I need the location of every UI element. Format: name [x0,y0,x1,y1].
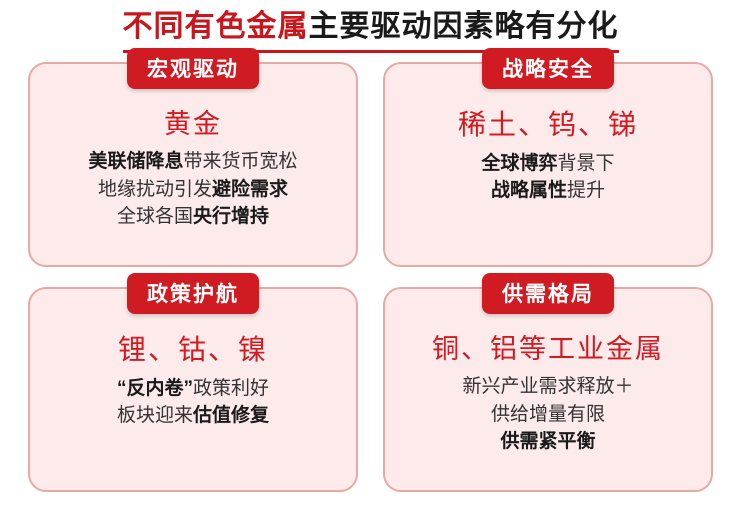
card-line-emphasis: 全球博弈 [481,153,557,174]
card-badge: 战略安全 [482,48,614,89]
card-line: “反内卷”政策利好 [44,375,342,403]
card-line: 全球博弈背景下 [399,150,697,178]
card-line: 美联储降息带来货币宽松 [44,148,342,176]
title-container: 不同有色金属主要驱动因素略有分化 [0,0,741,53]
card-line-emphasis: 避险需求 [212,179,288,200]
card-badge: 供需格局 [482,273,614,314]
card-line-emphasis: 供需紧平衡 [500,431,595,452]
card-body: 美联储降息带来货币宽松 地缘扰动引发避险需求 全球各国央行增持 [30,148,356,231]
card-body: 新兴产业需求释放＋ 供给增量有限 供需紧平衡 [385,373,711,456]
card-line-text: 新兴产业需求释放＋ [462,376,633,397]
card-line: 地缘扰动引发避险需求 [44,176,342,204]
card-policy-support: 政策护航 锂、钴、镍 “反内卷”政策利好 板块迎来估值修复 [28,287,358,492]
title-red-part: 不同有色金属 [123,10,309,43]
card-line-emphasis: 央行增持 [193,206,269,227]
card-heading: 锂、钴、镍 [30,333,356,367]
card-line: 供给增量有限 [399,401,697,429]
card-strategic-security: 战略安全 稀土、钨、锑 全球博弈背景下 战略属性提升 [383,62,713,267]
card-body: “反内卷”政策利好 板块迎来估值修复 [30,375,356,430]
card-line-text: 地缘扰动引发 [98,179,212,200]
card-line: 板块迎来估值修复 [44,402,342,430]
card-line: 全球各国央行增持 [44,203,342,231]
card-line: 战略属性提升 [399,177,697,205]
card-line: 新兴产业需求释放＋ [399,373,697,401]
page-title: 不同有色金属主要驱动因素略有分化 [123,8,619,53]
card-line: 供需紧平衡 [399,428,697,456]
card-heading: 黄金 [30,108,356,140]
card-line-text: 背景下 [558,153,615,174]
card-line-emphasis: 美联储降息 [88,151,183,172]
card-line-emphasis: “反内卷” [117,378,193,399]
card-line-text: 全球各国 [117,206,193,227]
card-line-text: 提升 [567,180,605,201]
card-heading: 铜、铝等工业金属 [385,333,711,365]
card-heading: 稀土、钨、锑 [385,108,711,142]
card-line-text: 板块迎来 [117,405,193,426]
card-line-text: 供给增量有限 [491,404,605,425]
card-supply-demand: 供需格局 铜、铝等工业金属 新兴产业需求释放＋ 供给增量有限 供需紧平衡 [383,287,713,492]
card-badge: 宏观驱动 [127,48,259,89]
card-line-emphasis: 估值修复 [193,405,269,426]
infographic-page: 不同有色金属主要驱动因素略有分化 宏观驱动 黄金 美联储降息带来货币宽松 地缘扰… [0,0,741,520]
title-dark-part: 主要驱动因素略有分化 [309,10,619,43]
card-macro-driver: 宏观驱动 黄金 美联储降息带来货币宽松 地缘扰动引发避险需求 全球各国央行增持 [28,62,358,267]
card-line-emphasis: 战略属性 [491,180,567,201]
card-line-text: 带来货币宽松 [184,151,298,172]
card-line-text: 政策利好 [193,378,269,399]
card-body: 全球博弈背景下 战略属性提升 [385,150,711,205]
card-badge: 政策护航 [127,273,259,314]
cards-grid: 宏观驱动 黄金 美联储降息带来货币宽松 地缘扰动引发避险需求 全球各国央行增持 … [28,62,713,492]
